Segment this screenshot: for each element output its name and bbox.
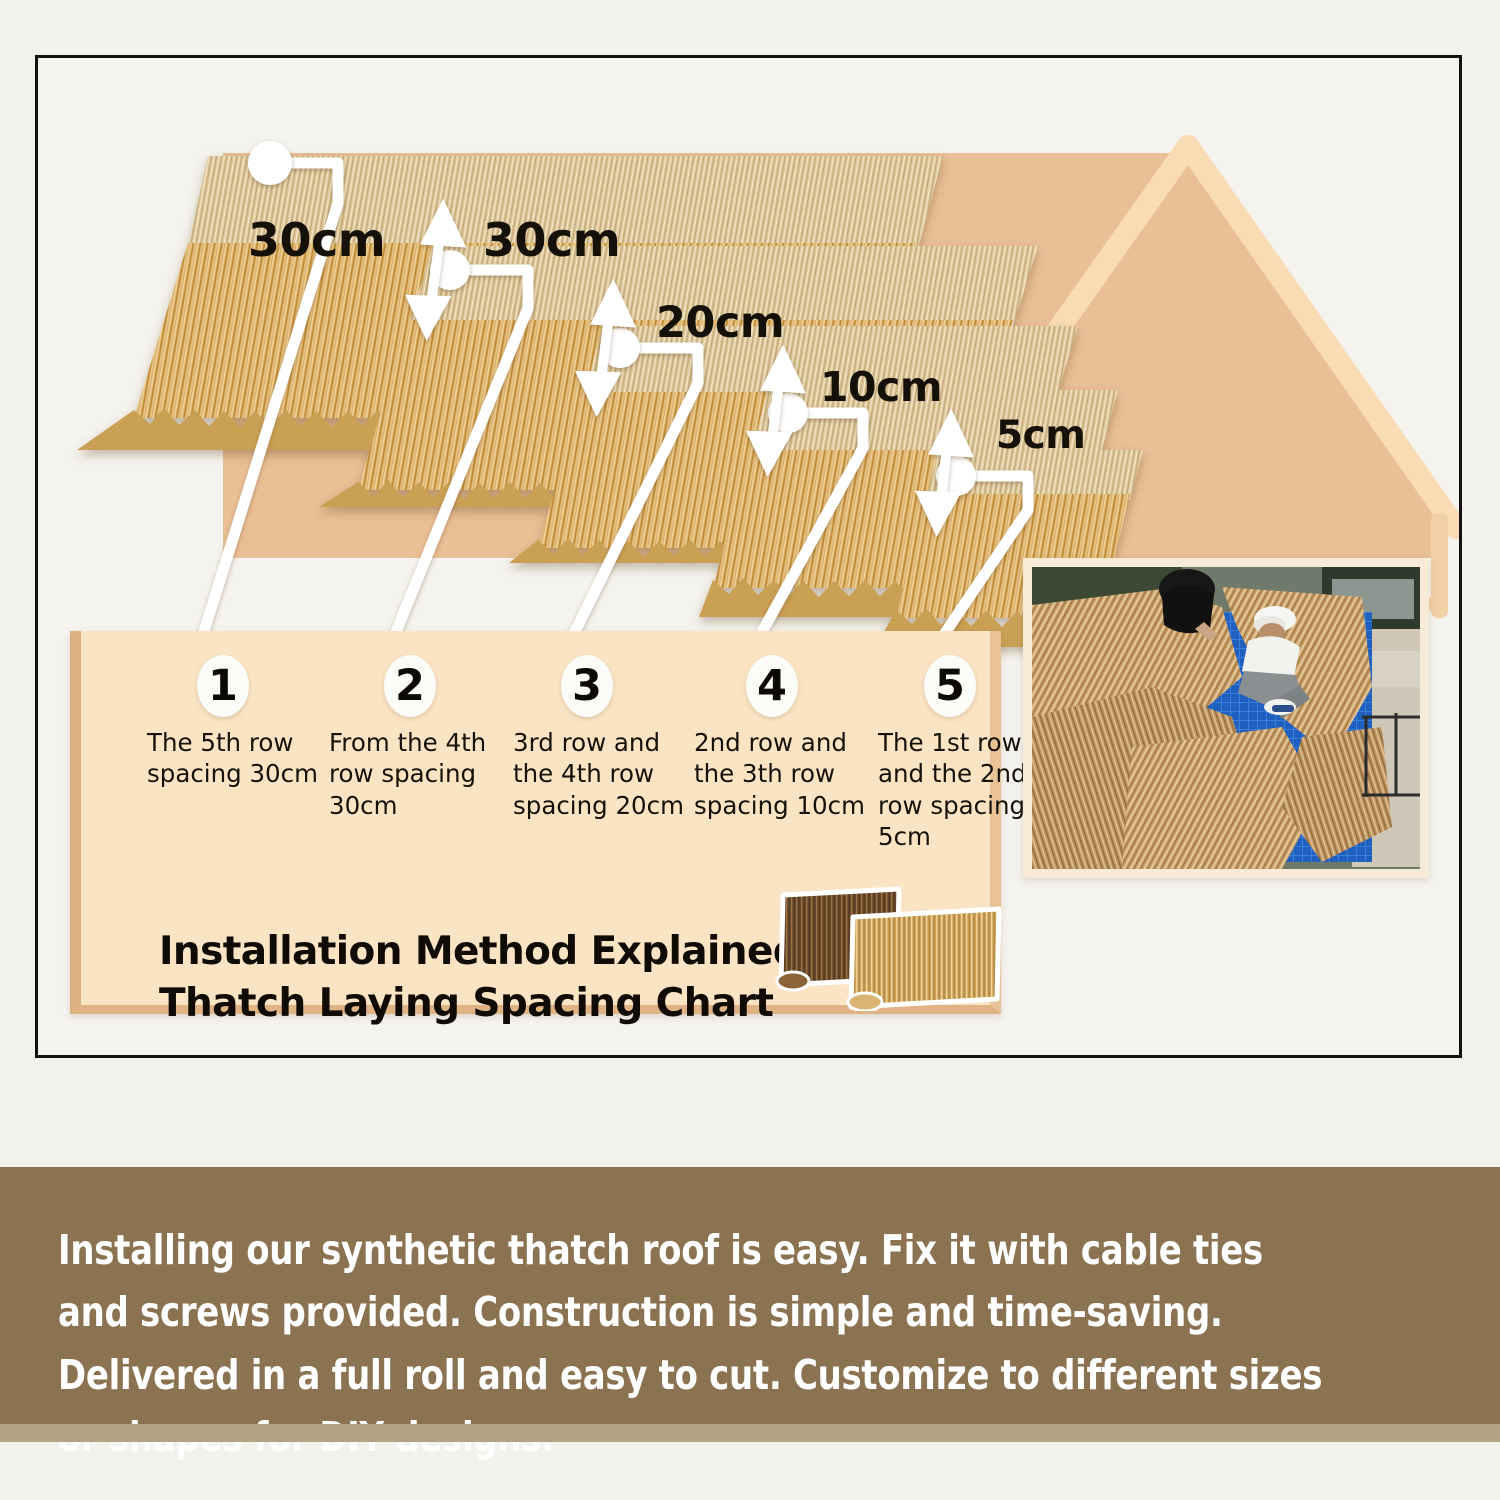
step-number-row: 1 2 3 4 5 [81,631,990,723]
step-caption-3: 3rd row and the 4th row spacing 20cm [513,727,691,821]
chart-title-line-2: Thatch Laying Spacing Chart [159,978,828,1030]
measure-label-4: 10cm [820,363,942,411]
caption-band: 1 2 3 4 5 The 5th row spacing 30cm From … [70,631,1001,1014]
chart-title-line-1: Installation Method Explained : [159,926,828,978]
step-caption-1: The 5th row spacing 30cm [147,727,325,790]
measure-label-2: 30cm [483,213,620,267]
bottom-banner: Installing our synthetic thatch roof is … [0,1167,1500,1442]
product-thatch-rolls [771,881,1016,1016]
step-caption-4: 2nd row and the 3th row spacing 10cm [694,727,872,821]
product-roll-light [848,909,999,1011]
installation-photo [1032,567,1420,869]
step-number-1: 1 [197,655,249,717]
step-caption-2: From the 4th row spacing 30cm [329,727,507,821]
step-number-2: 2 [384,655,436,717]
infographic-stage: 30cm 30cm 20cm 10cm 5cm 1 2 3 4 5 The 5t… [0,0,1500,1500]
step-number-3: 3 [561,655,613,717]
measure-label-1: 30cm [248,213,385,267]
illustration-panel: 30cm 30cm 20cm 10cm 5cm 1 2 3 4 5 The 5t… [35,55,1462,1058]
chart-title: Installation Method Explained : Thatch L… [159,926,828,1030]
measure-label-5: 5cm [996,413,1085,458]
step-number-4: 4 [746,655,798,717]
banner-bottom-strip [0,1424,1500,1442]
installation-photo-frame [1023,558,1429,878]
step-number-5: 5 [924,655,976,717]
measure-label-3: 20cm [656,298,784,348]
